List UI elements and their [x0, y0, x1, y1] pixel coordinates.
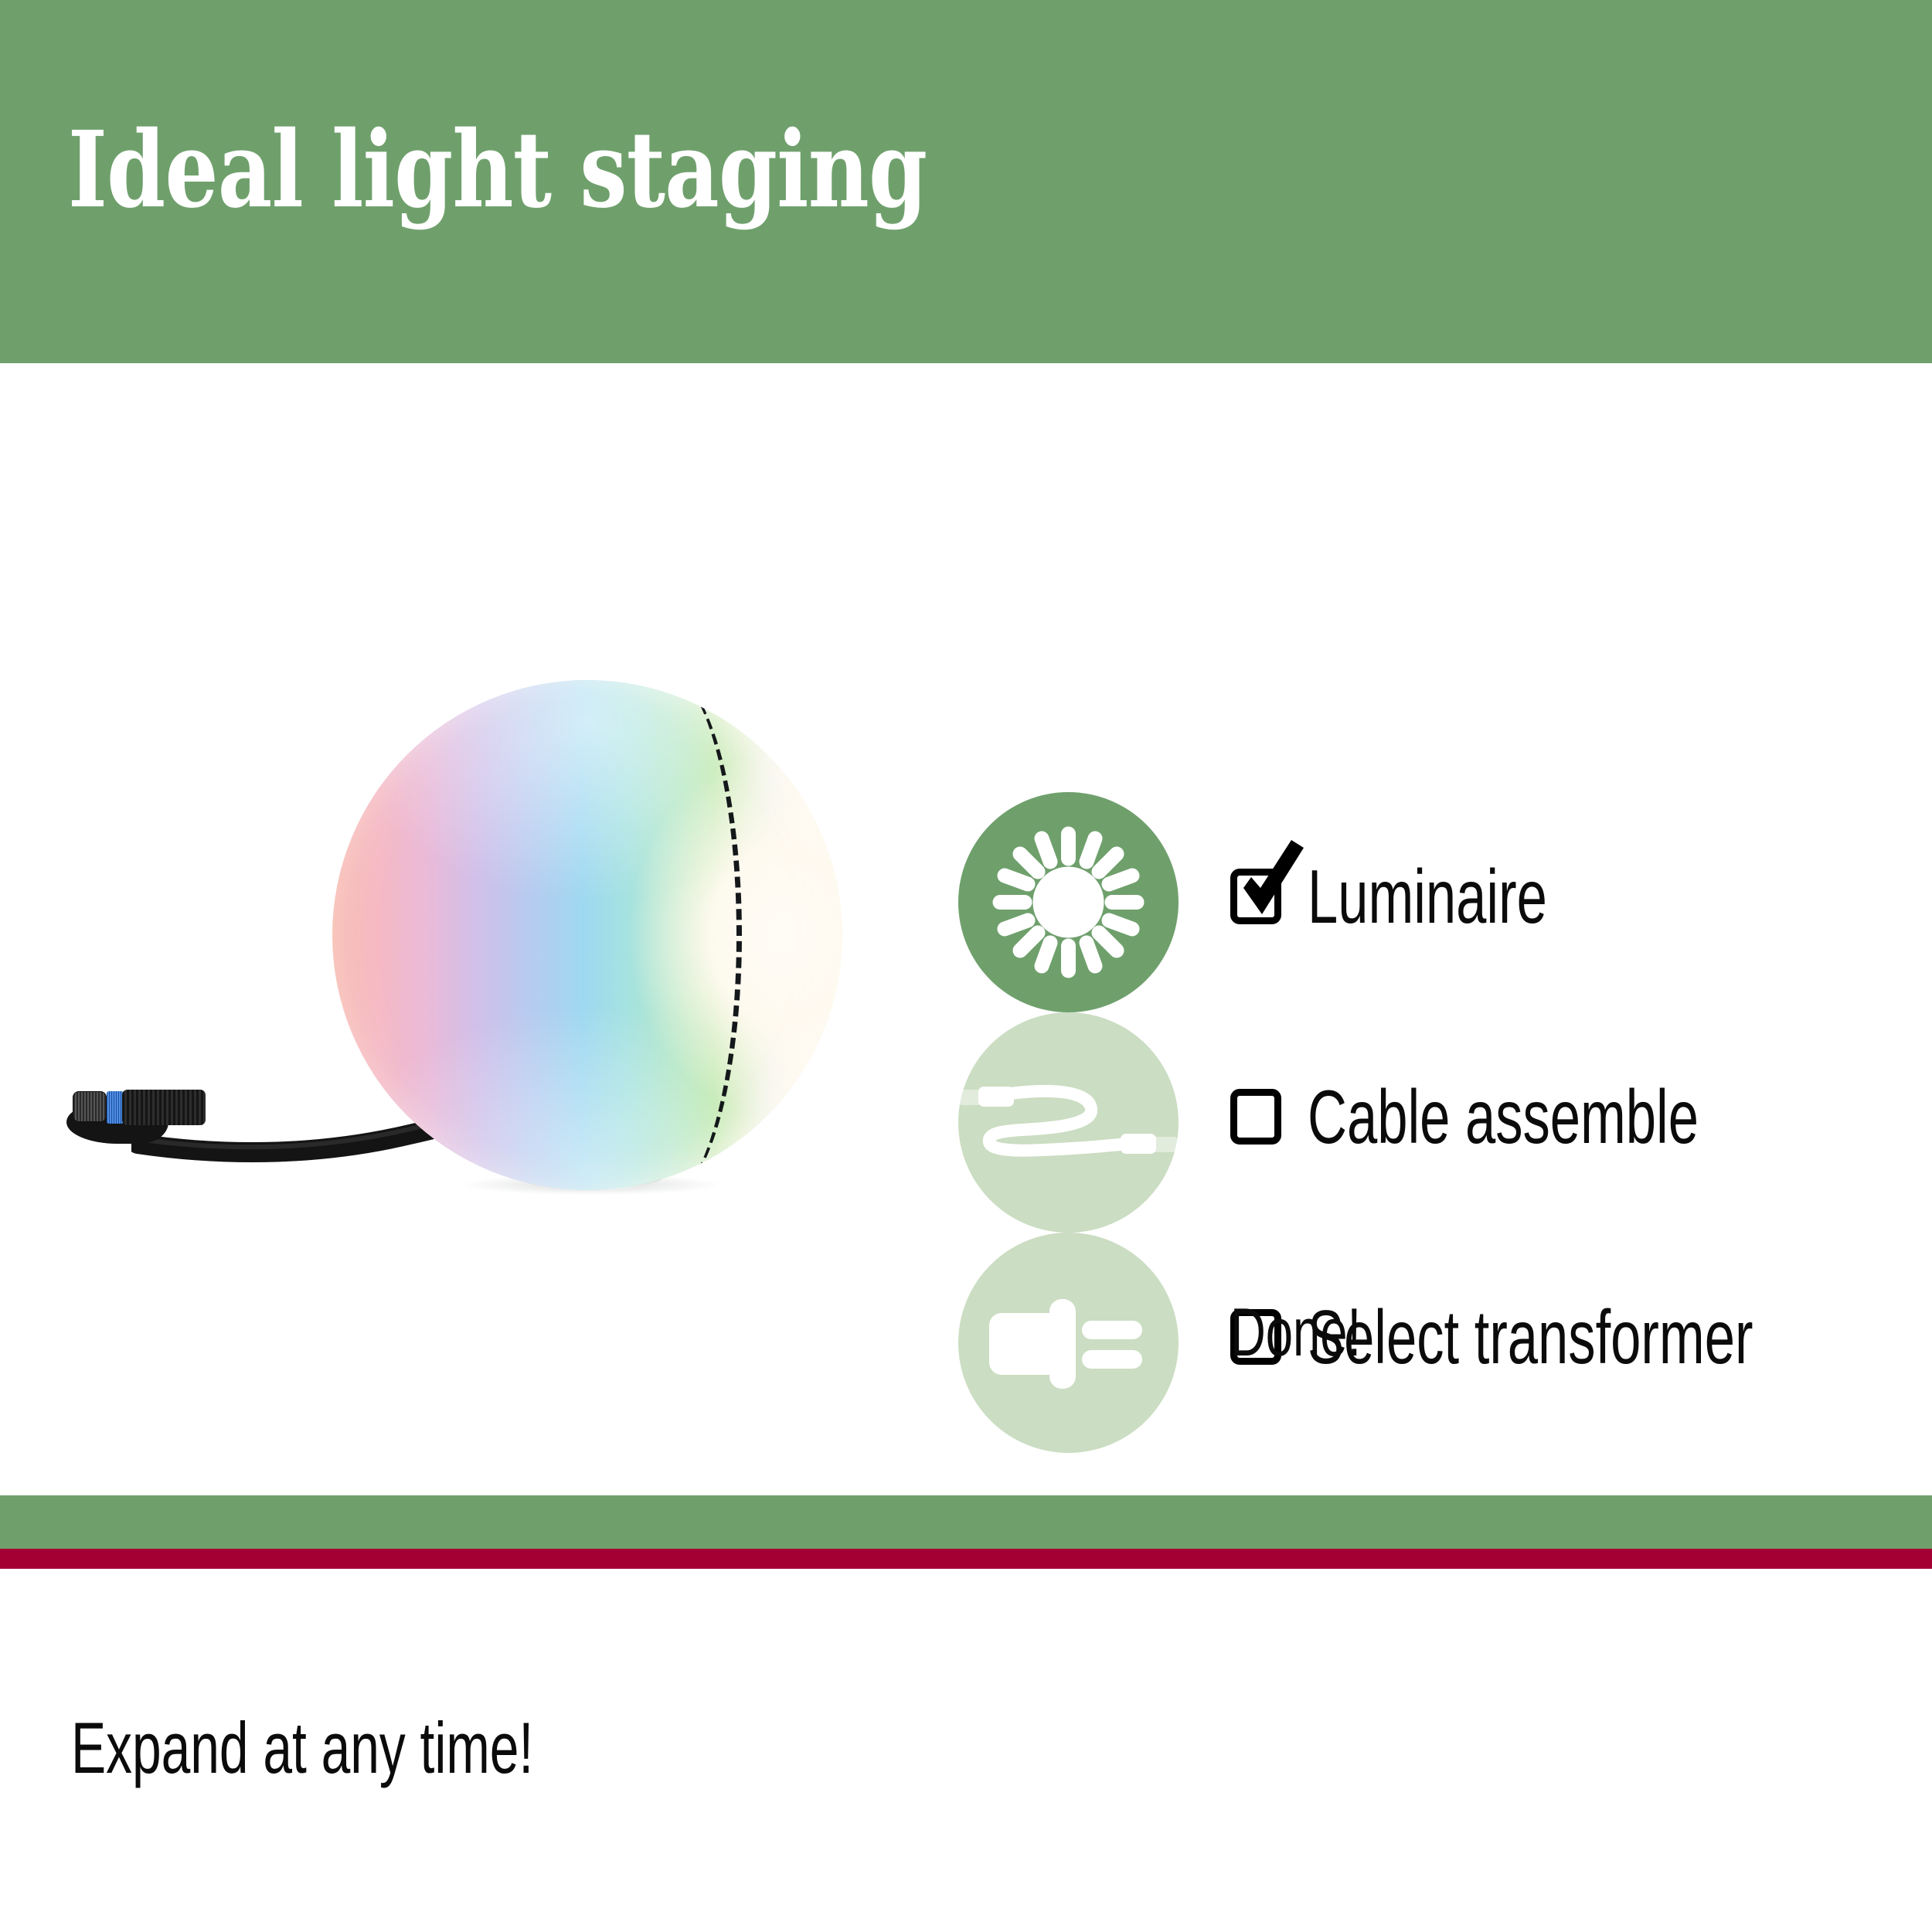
luminaire-label-group[interactable]: Luminaire	[1230, 859, 1640, 934]
checkbox-cable-assemble[interactable]	[1230, 1089, 1281, 1145]
checklist: Luminaire Cable assemble	[958, 792, 1932, 1453]
done-text: Done!	[1230, 1295, 1361, 1369]
checklist-label: Select transformer	[1308, 1299, 1753, 1375]
checklist-item-transformer[interactable]: Select transformer	[958, 1233, 1932, 1453]
cable-label-group[interactable]: Cable assemble	[1230, 1079, 1851, 1155]
header-band: Ideal light staging	[0, 0, 1932, 363]
checkbox-luminaire[interactable]	[1230, 869, 1281, 924]
connector-body	[122, 1090, 206, 1125]
sun-icon	[958, 792, 1179, 1012]
cable-icon	[958, 1012, 1179, 1233]
footer-caption: Expand at any time!	[71, 1708, 533, 1788]
cable-connector	[63, 1088, 202, 1145]
product-image	[31, 634, 920, 1221]
globe-seam-dashed	[587, 680, 742, 1190]
page-title: Ideal light staging	[68, 108, 927, 232]
footer-red-bar	[0, 1549, 1932, 1569]
connector-nut	[73, 1091, 107, 1122]
checklist-item-cable[interactable]: Cable assemble	[958, 1012, 1932, 1233]
plug-icon	[958, 1233, 1179, 1453]
globe-sphere	[332, 680, 842, 1190]
checkmark-icon	[1236, 840, 1310, 925]
main-content: Luminaire Cable assemble	[0, 363, 1932, 1548]
checklist-item-luminaire[interactable]: Luminaire	[958, 792, 1932, 1012]
checklist-label: Luminaire	[1308, 859, 1547, 934]
checklist-label: Cable assemble	[1308, 1079, 1699, 1155]
footer-green-bar	[0, 1495, 1932, 1549]
connector-blue-ring	[107, 1091, 124, 1124]
